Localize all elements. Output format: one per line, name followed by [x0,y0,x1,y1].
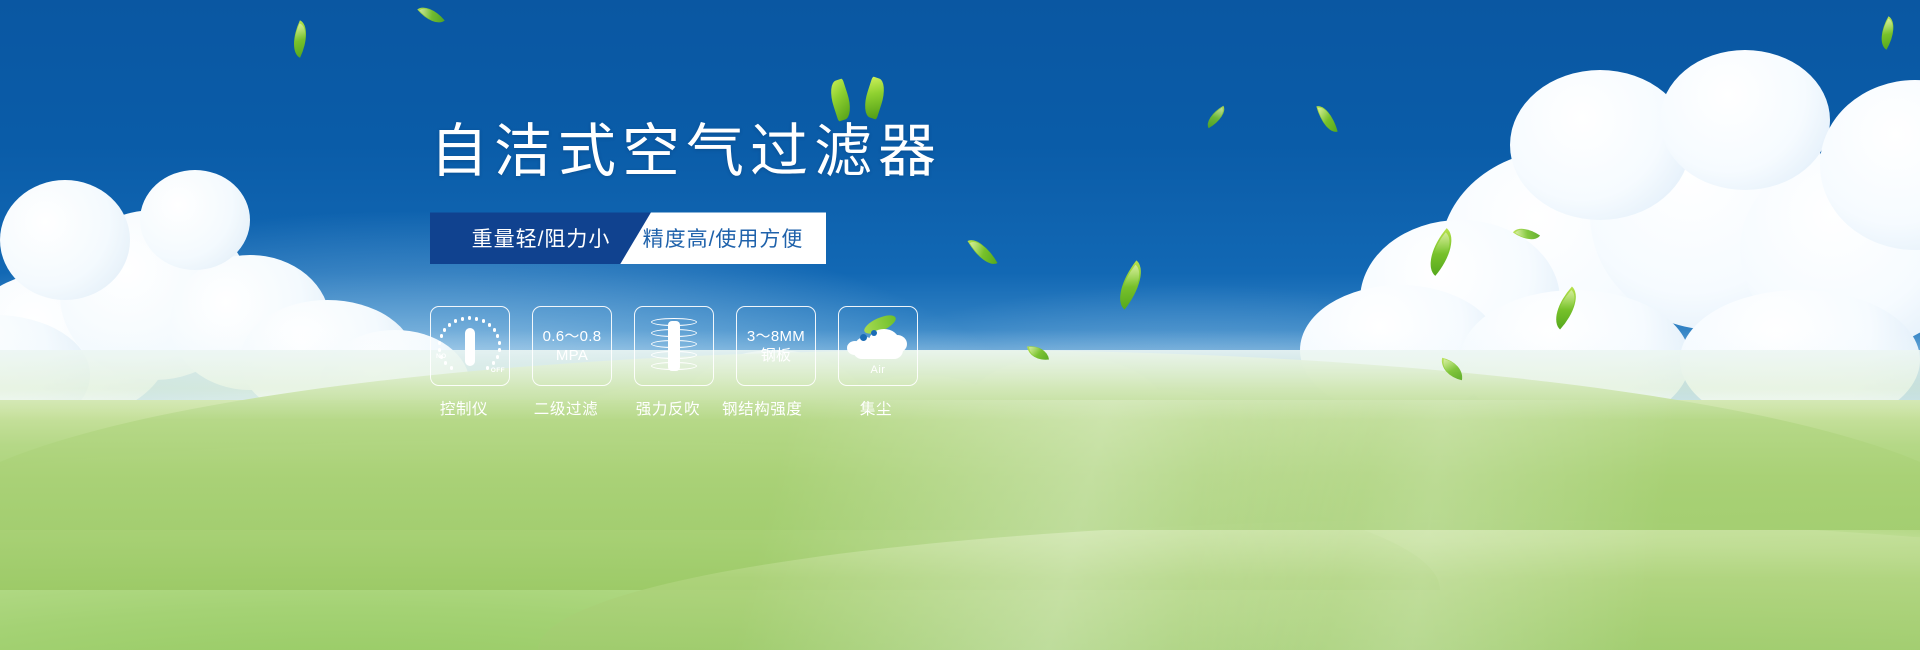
blowback-core [668,321,680,371]
feature-label: 强力反吹 [628,397,708,419]
air-cloud-icon: Air [847,319,909,373]
feature-item-steel[interactable]: 3～8MM 钢板 钢结构强度 [736,306,816,419]
floating-leaf [1418,228,1463,276]
steel-text-icon: 3～8MM 钢板 [747,327,805,365]
feature-icon-box: 3～8MM 钢板 [736,306,816,386]
feature-label: 二级过滤 [526,397,606,419]
feature-item-filtration[interactable]: 0.6～0.8 MPA 二级过滤 [532,306,612,419]
tag-bar: 重量轻/阻力小 精度高/使用方便 [430,212,826,264]
banner-content: 自洁式空气过滤器 重量轻/阻力小 精度高/使用方便 [430,118,1130,419]
feature-item-dust[interactable]: Air 集尘 [838,306,918,419]
floating-leaf [1513,222,1540,246]
grass-field [0,400,1920,650]
gauge-label-off: OFF [491,367,505,374]
title-wrap: 自洁式空气过滤器 [430,118,1130,186]
floating-leaf [1203,106,1230,128]
floating-leaf [286,20,315,58]
tag-lightweight[interactable]: 重量轻/阻力小 [430,212,652,264]
feature-icon-box [634,306,714,386]
floating-leaf [417,1,444,30]
title-leaf-decoration [828,74,898,130]
feature-list: NO OFF 控制仪 0.6～0.8 MPA 二级过滤 [430,306,1130,419]
feature-icon-box: Air [838,306,918,386]
tag-precision[interactable]: 精度高/使用方便 [620,212,826,264]
feature-item-controller[interactable]: NO OFF 控制仪 [430,306,510,419]
floating-leaf [1874,16,1902,49]
page-title: 自洁式空气过滤器 [430,118,1130,186]
pressure-text-icon: 0.6～0.8 MPA [543,327,602,365]
feature-label: 控制仪 [424,397,504,419]
air-label: Air [847,364,909,376]
floating-leaf [1545,286,1587,329]
cloud-base [853,341,903,359]
gauge-needle [465,328,475,366]
feature-icon-box: 0.6～0.8 MPA [532,306,612,386]
product-banner: 自洁式空气过滤器 重量轻/阻力小 精度高/使用方便 [0,0,1920,650]
feature-item-blowback[interactable]: 强力反吹 [634,306,714,419]
gauge-label-no: NO [436,353,447,360]
leaf-icon [826,78,855,121]
feature-label: 钢结构强度 [722,397,802,419]
leaf-icon [860,76,889,119]
feature-icon-box: NO OFF [430,306,510,386]
blowback-icon [651,318,697,374]
floating-leaf [1316,103,1337,136]
gauge-icon: NO OFF [437,316,503,376]
feature-label: 集尘 [836,397,916,419]
